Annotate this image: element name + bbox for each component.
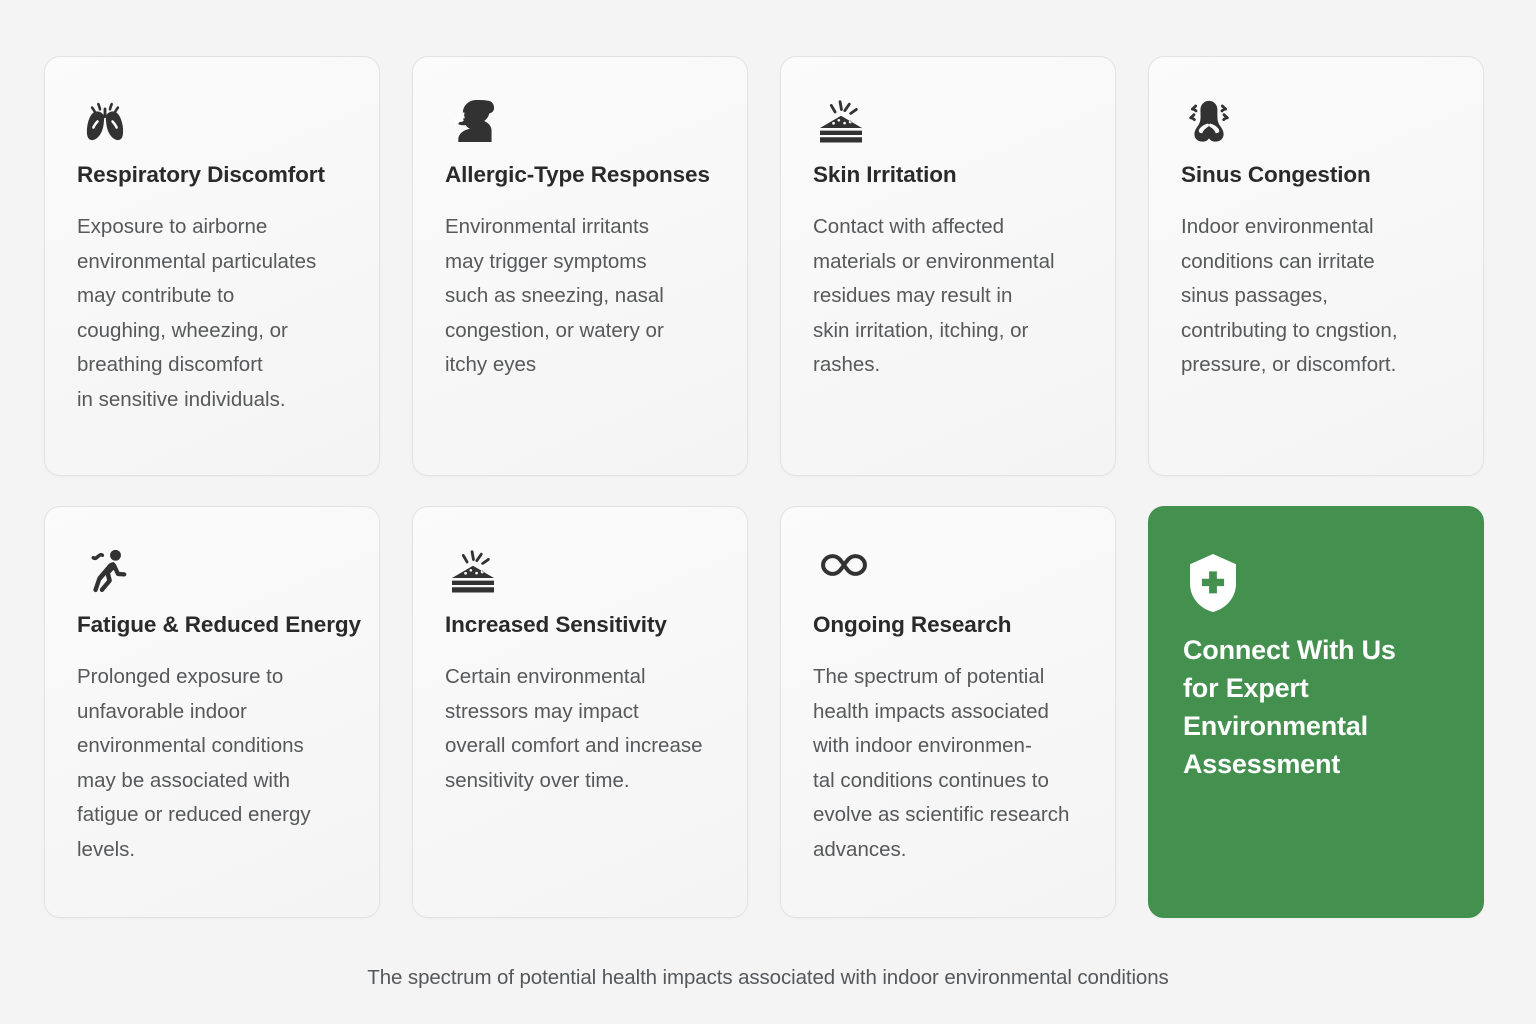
card-body: Contact with affected materials or envir… bbox=[813, 210, 1113, 383]
card-title: Sinus Congestion bbox=[1181, 161, 1453, 188]
card-title: Respiratory Discomfort bbox=[77, 161, 349, 188]
card-fatigue-reduced-energy[interactable]: Fatigue & Reduced Energy Prolonged expos… bbox=[44, 506, 380, 918]
card-sinus-congestion[interactable]: Sinus Congestion Indoor environmental co… bbox=[1148, 56, 1484, 476]
nose-icon bbox=[1181, 93, 1453, 153]
card-body: Prolonged exposure to unfavorable indoor… bbox=[77, 660, 349, 867]
card-body: The spectrum of potential health impacts… bbox=[813, 660, 1085, 867]
card-title: Allergic-Type Responses bbox=[445, 161, 717, 188]
card-body: Exposure to airborne environmental parti… bbox=[77, 210, 349, 417]
card-title: Skin Irritation bbox=[813, 161, 1085, 188]
sneezing-person-icon bbox=[445, 93, 717, 153]
shield-plus-icon bbox=[1183, 551, 1453, 623]
card-cta-connect-with-us[interactable]: Connect With Us for Expert Environmental… bbox=[1148, 506, 1484, 918]
card-body: Certain environmental stressors may impa… bbox=[445, 660, 717, 798]
tired-person-icon bbox=[77, 543, 349, 603]
card-body: Environmental irritants may trigger symp… bbox=[445, 210, 717, 383]
card-ongoing-research[interactable]: Ongoing Research The spectrum of potenti… bbox=[780, 506, 1116, 918]
skin-layers-icon bbox=[445, 543, 717, 603]
card-skin-irritation[interactable]: Skin Irritation Contact with affected ma… bbox=[780, 56, 1116, 476]
card-title: Fatigue & Reduced Energy bbox=[77, 611, 349, 638]
figure-caption: The spectrum of potential health impacts… bbox=[0, 966, 1536, 990]
cta-title: Connect With Us for Expert Environmental… bbox=[1183, 631, 1453, 783]
infinity-icon bbox=[813, 543, 1085, 603]
cards-grid: Respiratory Discomfort Exposure to airbo… bbox=[44, 56, 1504, 918]
card-body: Indoor environmental conditions can irri… bbox=[1181, 210, 1453, 383]
card-increased-sensitivity[interactable]: Increased Sensitivity Certain environmen… bbox=[412, 506, 748, 918]
card-title: Increased Sensitivity bbox=[445, 611, 717, 638]
health-impacts-card-grid-page: Respiratory Discomfort Exposure to airbo… bbox=[0, 0, 1536, 1024]
card-title: Ongoing Research bbox=[813, 611, 1085, 638]
card-allergic-type-responses[interactable]: Allergic-Type Responses Environmental ir… bbox=[412, 56, 748, 476]
skin-layers-icon bbox=[813, 93, 1085, 153]
lungs-icon bbox=[77, 93, 349, 153]
card-respiratory-discomfort[interactable]: Respiratory Discomfort Exposure to airbo… bbox=[44, 56, 380, 476]
